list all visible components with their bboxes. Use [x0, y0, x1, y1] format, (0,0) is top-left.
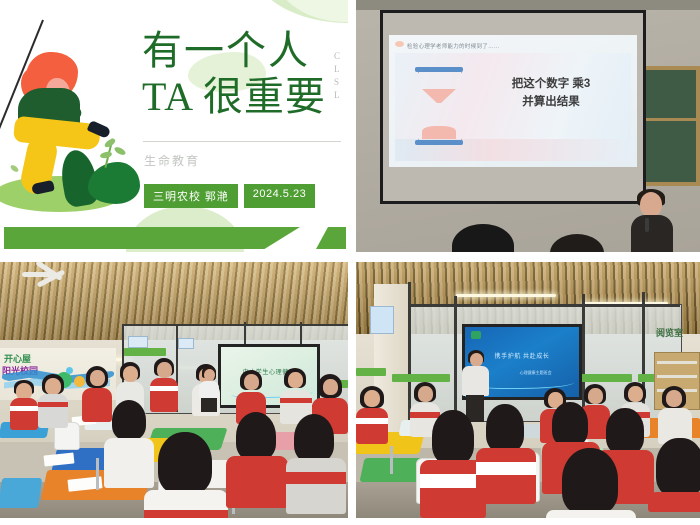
- uniform-stripe: [144, 510, 228, 518]
- title-line-2: TA 很重要: [142, 74, 342, 120]
- student-head: [628, 386, 643, 402]
- teacher-body: [199, 381, 219, 399]
- student-body: [150, 378, 178, 412]
- projected-slide-line-2: 并算出结果: [475, 93, 627, 111]
- teacher-body: [462, 366, 489, 396]
- student-hair: [158, 432, 212, 494]
- green-wall-board: [392, 374, 450, 382]
- vertical-letter-column: C L S L: [334, 52, 340, 100]
- projected-slide-header: 检验心理学老师能力的时候到了……: [407, 42, 500, 50]
- student-body: [10, 398, 38, 430]
- title-slide-panel: 有一个人 TA 很重要 C L S L 生命教育 三明农校 郭滟 2024.5.…: [0, 0, 348, 252]
- teacher-head: [204, 369, 215, 381]
- uniform-stripe: [286, 472, 346, 484]
- book-row: [657, 361, 697, 364]
- presenter-head: [640, 192, 662, 217]
- projected-slide-line-1: 把这个数字 乘3: [475, 75, 627, 93]
- green-wall-board: [356, 368, 386, 376]
- partition-mullion: [454, 296, 457, 422]
- hourglass-sand-bottom: [422, 126, 456, 139]
- audience-head-silhouette: [550, 234, 604, 252]
- student-hair: [294, 414, 334, 462]
- desk-leg: [96, 458, 99, 490]
- partition-rail: [122, 324, 348, 326]
- student-hair: [552, 402, 588, 446]
- uniform-stripe: [38, 402, 68, 407]
- uniform-stripe: [150, 386, 178, 391]
- student-body: [546, 510, 636, 518]
- audience-head-silhouette: [452, 224, 514, 252]
- student-head: [588, 388, 603, 404]
- title-line-1: 有一个人: [142, 28, 342, 74]
- wall-poster: [178, 338, 194, 349]
- presenter-figure: [628, 192, 676, 252]
- leaf-icon: [100, 151, 113, 159]
- wall-poster: [370, 306, 394, 334]
- projected-slide: 检验心理学老师能力的时候到了…… 把这个数字 乘3 并算出结果: [389, 35, 637, 167]
- student-desk: [0, 478, 42, 508]
- wall-room-label: 阅览室: [656, 326, 683, 339]
- student-hair: [432, 410, 474, 464]
- presenter-body: [631, 215, 673, 252]
- student-head: [418, 386, 433, 402]
- vertical-letter: L: [334, 65, 340, 74]
- vertical-letter: S: [334, 78, 340, 87]
- ceiling-fan-icon: [22, 266, 70, 282]
- bush-shape-b: [88, 162, 140, 204]
- student-head: [288, 372, 303, 388]
- classroom-wide-panel: 开心屋 阳光校园 中小学生心理健康: [0, 262, 348, 518]
- hourglass-cap-bottom: [415, 140, 463, 145]
- title-divider: [143, 141, 341, 142]
- vertical-letter: C: [334, 52, 340, 61]
- student-hair: [656, 438, 700, 496]
- uniform-stripe: [280, 398, 312, 403]
- student-body: [226, 456, 288, 508]
- student-hair: [486, 404, 524, 452]
- hourglass-sand-top: [422, 89, 456, 103]
- projected-slide-text: 把这个数字 乘3 并算出结果: [475, 75, 627, 112]
- chalkboard: [640, 66, 700, 186]
- teacher-skirt: [201, 398, 217, 412]
- student-hair: [236, 412, 276, 460]
- classroom-teacher-panel: 阅览室 携手护航 共赴成长 心理健康主题班会: [356, 262, 700, 518]
- projection-screen-frame: 检验心理学老师能力的时候到了…… 把这个数字 乘3 并算出结果: [380, 10, 646, 204]
- hourglass-icon: [415, 67, 463, 145]
- mural-emoji-bubble: [74, 376, 85, 387]
- projector-room-panel: 检验心理学老师能力的时候到了…… 把这个数字 乘3 并算出结果: [356, 0, 700, 252]
- student-body: [104, 438, 154, 488]
- wall-top-trim: [356, 0, 700, 10]
- student-hair: [112, 400, 146, 440]
- teacher-head: [470, 353, 483, 367]
- student-body: [38, 394, 68, 428]
- ceiling-light: [456, 294, 556, 297]
- student-body: [82, 388, 112, 422]
- school-tag: 三明农校 郭滟: [144, 184, 238, 208]
- leaf-icon: [9, 164, 19, 173]
- student-hair: [606, 408, 644, 454]
- slide-subtitle: 生命教育: [144, 152, 200, 169]
- student-head: [157, 362, 172, 378]
- wall-poster: [128, 336, 148, 348]
- student-head: [364, 390, 380, 407]
- student-body: [286, 458, 346, 514]
- uniform-stripe: [410, 412, 440, 418]
- student-body: [648, 492, 700, 512]
- student-head: [244, 374, 259, 390]
- student-head: [90, 370, 105, 386]
- student-head: [123, 366, 138, 382]
- uniform-stripe: [356, 418, 388, 424]
- teacher-figure: [460, 350, 490, 422]
- photo-collage: 有一个人 TA 很重要 C L S L 生命教育 三明农校 郭滟 2024.5.…: [0, 0, 700, 525]
- chalkboard-divider: [644, 118, 696, 121]
- slide-tag-row: 三明农校 郭滟 2024.5.23: [144, 184, 315, 208]
- projection-screen-surface: 检验心理学老师能力的时候到了…… 把这个数字 乘3 并算出结果: [383, 13, 643, 201]
- green-wall-board: [124, 348, 166, 356]
- child-on-swing-illustration: [4, 16, 136, 212]
- display-screen-swoosh: [476, 378, 574, 389]
- partition-mullion: [408, 282, 411, 422]
- slide-bullet-icon: [395, 41, 404, 47]
- slide-title-block: 有一个人 TA 很重要: [142, 28, 342, 119]
- mural-emoji-bubble: [66, 367, 73, 374]
- leg-shape-front: [13, 116, 101, 151]
- student-body: [356, 408, 388, 444]
- date-tag: 2024.5.23: [244, 184, 315, 208]
- display-screen-subtitle: 心理健康主题班会: [499, 370, 572, 376]
- student-body: [476, 448, 536, 504]
- desk-leg: [390, 446, 393, 474]
- bottom-green-bar: [4, 227, 300, 249]
- display-screen-logo: [471, 331, 481, 339]
- partition-rail: [408, 304, 680, 307]
- student-hair: [562, 448, 618, 514]
- hourglass-cap-top: [415, 67, 463, 72]
- leaf-icon: [113, 146, 126, 157]
- microphone-icon: [645, 218, 649, 232]
- uniform-stripe: [10, 406, 38, 411]
- vertical-letter: L: [334, 91, 340, 100]
- student-head: [666, 390, 682, 407]
- partition-mullion: [582, 294, 585, 422]
- student-head: [323, 379, 338, 395]
- uniform-stripe: [476, 462, 536, 475]
- student-head: [45, 378, 61, 395]
- book-row: [657, 375, 697, 378]
- teacher-figure: [198, 366, 220, 412]
